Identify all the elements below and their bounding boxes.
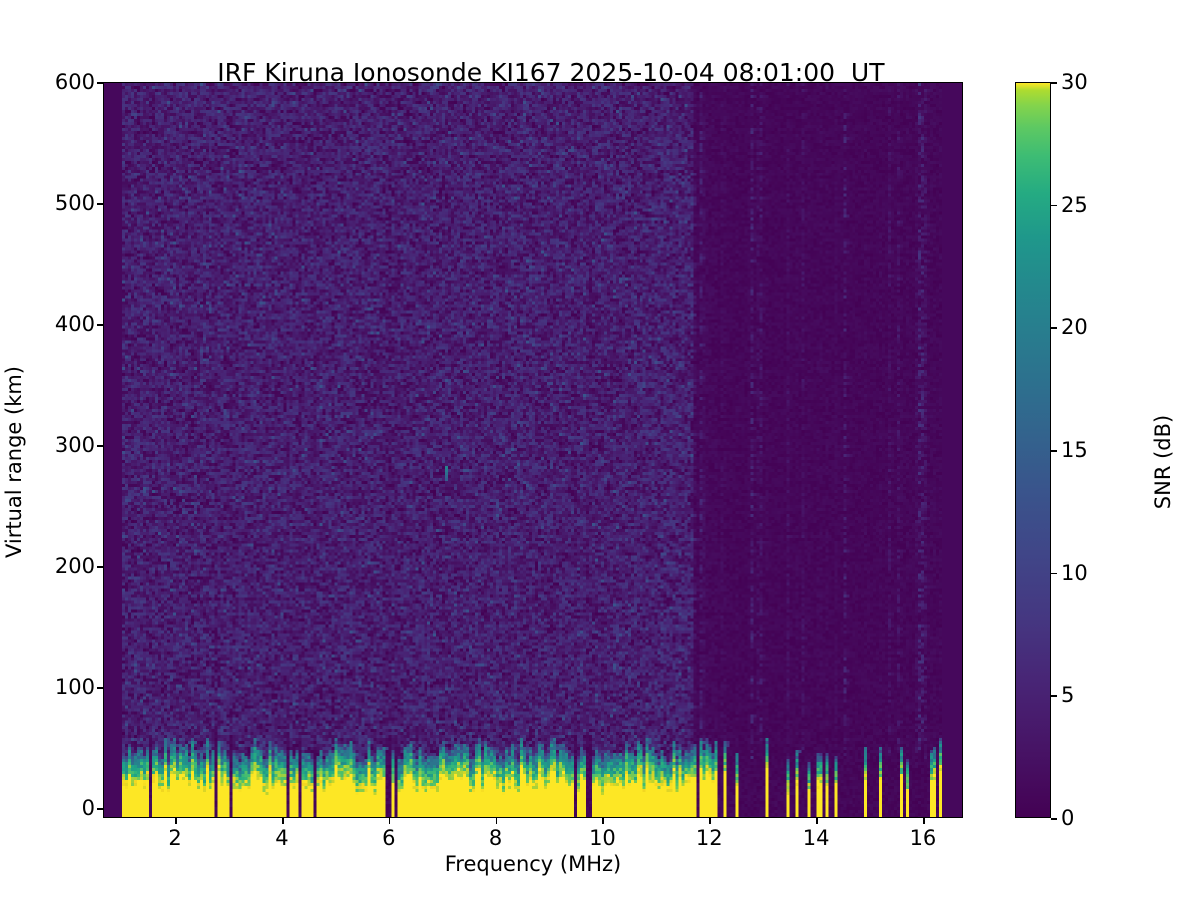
ionogram-figure: IRF Kiruna Ionosonde KI167 2025-10-04 08… (0, 0, 1200, 900)
y-tick-label: 0 (82, 796, 95, 820)
y-tick-mark (97, 445, 103, 447)
x-tick-label: 2 (168, 826, 181, 850)
x-tick-label: 12 (696, 826, 723, 850)
colorbar-tick-label: 0 (1061, 806, 1074, 830)
y-tick-label: 400 (55, 312, 95, 336)
colorbar-tick-mark (1051, 695, 1057, 697)
x-tick-label: 10 (589, 826, 616, 850)
colorbar-tick-label: 10 (1061, 561, 1088, 585)
x-tick-mark (175, 818, 177, 824)
colorbar-tick-mark (1051, 818, 1057, 820)
x-tick-label: 14 (803, 826, 830, 850)
x-tick-mark (496, 818, 498, 824)
x-tick-label: 8 (489, 826, 502, 850)
colorbar-tick-mark (1051, 327, 1057, 329)
y-tick-label: 300 (55, 433, 95, 457)
x-tick-mark (816, 818, 818, 824)
x-tick-mark (709, 818, 711, 824)
heatmap-layer (104, 83, 962, 817)
x-tick-labels: 246810121416 (103, 818, 963, 852)
colorbar-tick-label: 25 (1061, 193, 1088, 217)
y-axis-title: Virtual range (km) (2, 142, 26, 782)
y-tick-mark (97, 203, 103, 205)
y-tick-mark (97, 82, 103, 84)
x-tick-mark (282, 818, 284, 824)
colorbar-tick-label: 30 (1061, 70, 1088, 94)
x-tick-label: 16 (910, 826, 937, 850)
colorbar-tick-mark (1051, 205, 1057, 207)
ionogram-heatmap (104, 83, 962, 817)
y-tick-mark (97, 808, 103, 810)
colorbar-tick-label: 20 (1061, 315, 1088, 339)
x-axis-title: Frequency (MHz) (103, 852, 963, 876)
x-tick-label: 4 (275, 826, 288, 850)
y-tick-label: 200 (55, 554, 95, 578)
plot-axes (103, 82, 963, 818)
y-tick-label: 600 (55, 70, 95, 94)
y-tick-label: 500 (55, 191, 95, 215)
colorbar-tick-label: 5 (1061, 683, 1074, 707)
colorbar-tick-label: 15 (1061, 438, 1088, 462)
colorbar-tick-mark (1051, 573, 1057, 575)
y-tick-mark (97, 324, 103, 326)
colorbar-ticks: 051015202530 (1051, 82, 1111, 818)
colorbar-tick-mark (1051, 82, 1057, 84)
x-tick-mark (923, 818, 925, 824)
colorbar-tick-mark (1051, 450, 1057, 452)
x-tick-label: 6 (382, 826, 395, 850)
colorbar (1015, 82, 1051, 818)
colorbar-title: SNR (dB) (1151, 312, 1175, 612)
y-tick-mark (97, 566, 103, 568)
y-tick-mark (97, 687, 103, 689)
x-tick-mark (389, 818, 391, 824)
x-tick-mark (602, 818, 604, 824)
y-tick-label: 100 (55, 675, 95, 699)
